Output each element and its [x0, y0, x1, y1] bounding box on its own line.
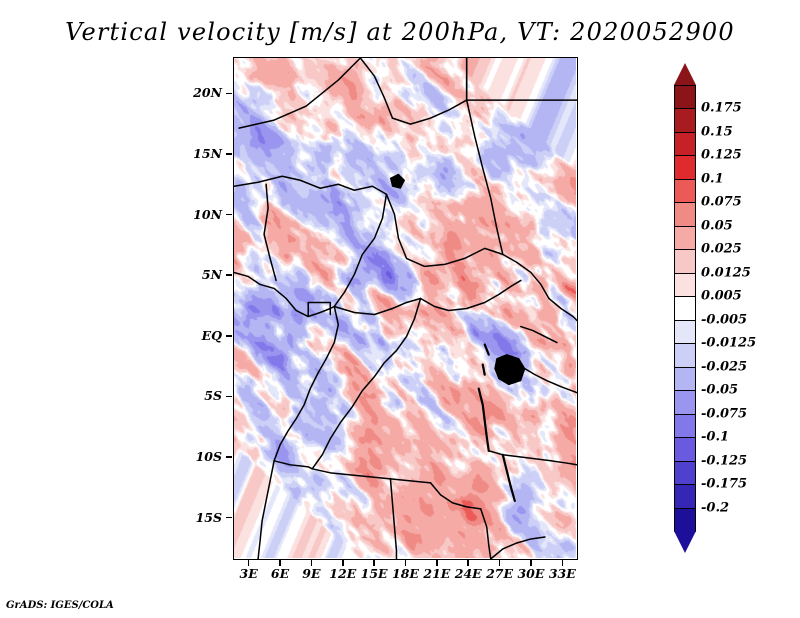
colorbar-tick-label: -0.075 [701, 406, 747, 421]
colorbar-swatch[interactable] [674, 108, 696, 133]
colorbar-tick-label: -0.05 [701, 383, 738, 398]
page-title: Vertical velocity [m/s] at 200hPa, VT: 2… [0, 18, 800, 46]
colorbar[interactable] [674, 85, 696, 531]
y-tick-10s [226, 456, 232, 458]
colorbar-swatch[interactable] [674, 437, 696, 462]
y-tick-5s [226, 396, 232, 398]
colorbar-swatch[interactable] [674, 155, 696, 180]
y-tick-5n [226, 274, 232, 276]
colorbar-tick-label: -0.005 [701, 312, 747, 327]
colorbar-tick-label: 0.15 [701, 124, 733, 139]
colorbar-tick-label: -0.025 [701, 359, 747, 374]
y-tick-15n [226, 153, 232, 155]
map-plot-area[interactable] [233, 57, 578, 560]
colorbar-tick-label: 0.1 [701, 171, 724, 186]
colorbar-swatch[interactable] [674, 414, 696, 439]
colorbar-tick-label: 0.05 [701, 218, 733, 233]
grads-credit: GrADS: IGES/COLA [6, 600, 114, 611]
colorbar-tick-label: -0.1 [701, 430, 729, 445]
colorbar-tick-label: 0.075 [701, 195, 742, 210]
colorbar-swatch[interactable] [674, 390, 696, 415]
colorbar-tick-label: 0.025 [701, 242, 742, 257]
colorbar-swatch[interactable] [674, 249, 696, 274]
y-axis-label-15n: 15N [172, 146, 222, 161]
y-axis-label-eq: EQ [172, 328, 222, 343]
y-axis-label-20n: 20N [172, 85, 222, 100]
y-axis-label-5n: 5N [172, 267, 222, 282]
y-axis-label-15s: 15S [172, 510, 222, 525]
colorbar-swatch[interactable] [674, 508, 696, 533]
y-axis-label-10n: 10N [172, 207, 222, 222]
y-tick-eq [226, 335, 232, 337]
colorbar-tick-label: -0.0125 [701, 336, 756, 351]
colorbar-swatch[interactable] [674, 179, 696, 204]
colorbar-swatch[interactable] [674, 85, 696, 110]
colorbar-swatch[interactable] [674, 296, 696, 321]
colorbar-swatch[interactable] [674, 484, 696, 509]
colorbar-swatch[interactable] [674, 202, 696, 227]
x-axis-label-33e: 33E [540, 566, 584, 581]
vertical-velocity-field [234, 58, 576, 558]
colorbar-swatch[interactable] [674, 226, 696, 251]
colorbar-swatch[interactable] [674, 343, 696, 368]
colorbar-tick-label: 0.125 [701, 148, 742, 163]
colorbar-tick-label: -0.2 [701, 500, 729, 515]
colorbar-tick-label: 0.175 [701, 101, 742, 116]
colorbar-swatch[interactable] [674, 132, 696, 157]
y-tick-10n [226, 214, 232, 216]
colorbar-tick-label: -0.125 [701, 453, 747, 468]
colorbar-tick-label: -0.175 [701, 477, 747, 492]
colorbar-tick-label: 0.0125 [701, 265, 751, 280]
colorbar-swatch[interactable] [674, 273, 696, 298]
y-axis-label-10s: 10S [172, 449, 222, 464]
colorbar-under-arrow [674, 531, 696, 553]
colorbar-tick-label: 0.005 [701, 289, 742, 304]
y-axis-label-5s: 5S [172, 388, 222, 403]
colorbar-swatch[interactable] [674, 461, 696, 486]
y-tick-20n [226, 93, 232, 95]
colorbar-swatch[interactable] [674, 367, 696, 392]
y-tick-15s [226, 517, 232, 519]
colorbar-over-arrow [674, 63, 696, 85]
colorbar-swatch[interactable] [674, 320, 696, 345]
